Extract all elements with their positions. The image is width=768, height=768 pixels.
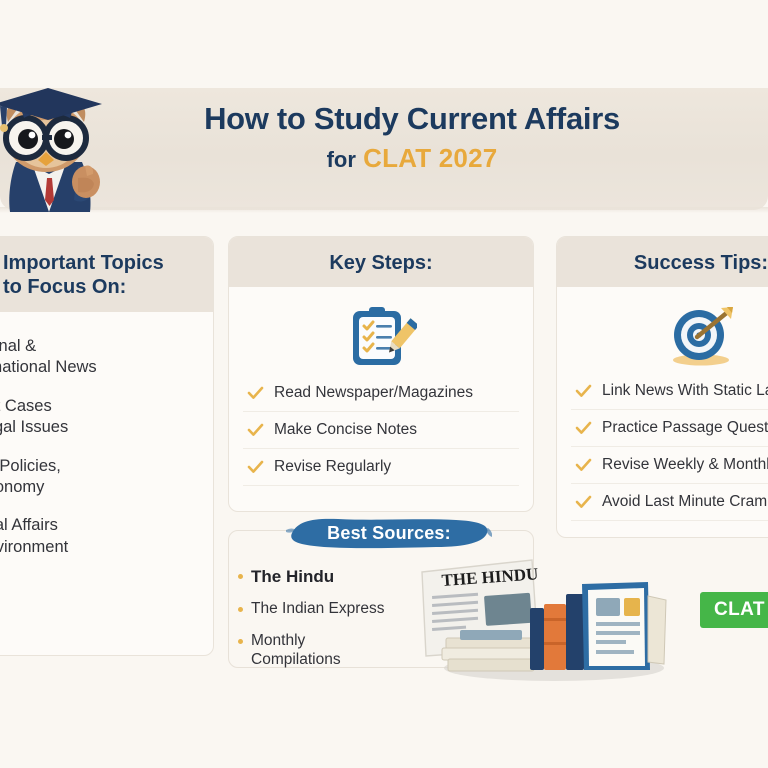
card-header-key-steps: Key Steps: — [229, 237, 533, 287]
check-icon — [575, 421, 592, 435]
card-success-tips: Success Tips: Link News With Static Law — [556, 236, 768, 538]
list-item: Revise Regularly — [243, 449, 519, 486]
topics-list: National & International News Court Case… — [0, 336, 199, 559]
list-item: Link News With Static Law — [571, 373, 768, 410]
page-title: How to Study Current Affairs — [112, 100, 712, 139]
list-item: National & International News — [0, 336, 199, 379]
clat-badge-label: CLAT — [714, 599, 765, 621]
step-label: Revise Regularly — [274, 458, 391, 476]
card-body-important-topics: National & International News Court Case… — [0, 312, 213, 588]
success-tips-list: Link News With Static Law Practice Passa… — [571, 373, 768, 521]
infographic-canvas: How to Study Current Affairs for CLAT 20… — [0, 0, 768, 768]
subtitle-exam-label: CLAT 2027 — [363, 143, 497, 173]
tip-label: Avoid Last Minute Cramming — [602, 493, 768, 511]
key-steps-list: Read Newspaper/Magazines Make Concise No… — [243, 375, 519, 486]
source-label: Monthly Compilations — [251, 631, 341, 670]
list-item: Bills, Policies, & Economy — [0, 456, 199, 499]
bullet-dot-icon — [238, 574, 243, 579]
tip-label: Link News With Static Law — [602, 382, 768, 400]
bullet-dot-icon — [238, 607, 243, 612]
list-item: Practice Passage Questions — [571, 410, 768, 447]
tip-label: Revise Weekly & Monthly — [602, 456, 768, 474]
clipboard-pencil-icon — [345, 305, 417, 369]
card-title-important-topics: Important Topics to Focus On: — [3, 251, 203, 300]
newspaper-books-icon: THE HINDU — [404, 552, 676, 682]
list-item: The Indian Express — [238, 599, 428, 619]
topic-label: National & International News — [0, 336, 97, 379]
bullet-dot-icon — [238, 639, 243, 644]
card-body-success-tips: Link News With Static Law Practice Passa… — [557, 287, 768, 533]
check-icon — [575, 458, 592, 472]
step-label: Make Concise Notes — [274, 421, 417, 439]
list-item: Court Cases & Legal Issues — [0, 396, 199, 439]
best-sources-list: The Hindu The Indian Express Monthly Com… — [238, 566, 428, 682]
check-icon — [247, 423, 264, 437]
list-item: Make Concise Notes — [243, 412, 519, 449]
list-item: Read Newspaper/Magazines — [243, 375, 519, 412]
card-title-key-steps: Key Steps: — [239, 251, 523, 275]
check-icon — [575, 384, 592, 398]
card-key-steps: Key Steps: — [228, 236, 534, 512]
card-important-topics: Important Topics to Focus On: National &… — [0, 236, 214, 656]
subtitle-for-label: for — [327, 147, 356, 172]
step-label: Read Newspaper/Magazines — [274, 384, 473, 402]
list-item: Monthly Compilations — [238, 631, 428, 670]
target-arrow-icon — [663, 305, 739, 367]
card-title-success-tips: Success Tips: — [567, 251, 768, 275]
topic-label: Court Cases & Legal Issues — [0, 396, 68, 439]
check-icon — [247, 386, 264, 400]
topic-label: Global Affairs & Environment — [0, 515, 68, 558]
page-subtitle: for CLAT 2027 — [112, 143, 712, 174]
best-sources-label: Best Sources: — [286, 516, 492, 550]
owl-graduate-mascot-icon — [0, 82, 114, 212]
header-title-group: How to Study Current Affairs for CLAT 20… — [112, 100, 712, 174]
card-body-key-steps: Read Newspaper/Magazines Make Concise No… — [229, 287, 533, 498]
list-item: The Hindu — [238, 566, 428, 587]
best-sources-banner: Best Sources: — [286, 516, 492, 550]
source-label: The Indian Express — [251, 599, 385, 619]
card-header-important-topics: Important Topics to Focus On: — [0, 237, 213, 312]
list-item: Avoid Last Minute Cramming — [571, 484, 768, 521]
list-item: Revise Weekly & Monthly — [571, 447, 768, 484]
clat-badge[interactable]: CLAT — [700, 592, 768, 628]
check-icon — [575, 495, 592, 509]
source-label: The Hindu — [251, 566, 334, 587]
topic-label: Bills, Policies, & Economy — [0, 456, 61, 499]
check-icon — [247, 460, 264, 474]
card-header-success-tips: Success Tips: — [557, 237, 768, 287]
list-item: Global Affairs & Environment — [0, 515, 199, 558]
tip-label: Practice Passage Questions — [602, 419, 768, 437]
